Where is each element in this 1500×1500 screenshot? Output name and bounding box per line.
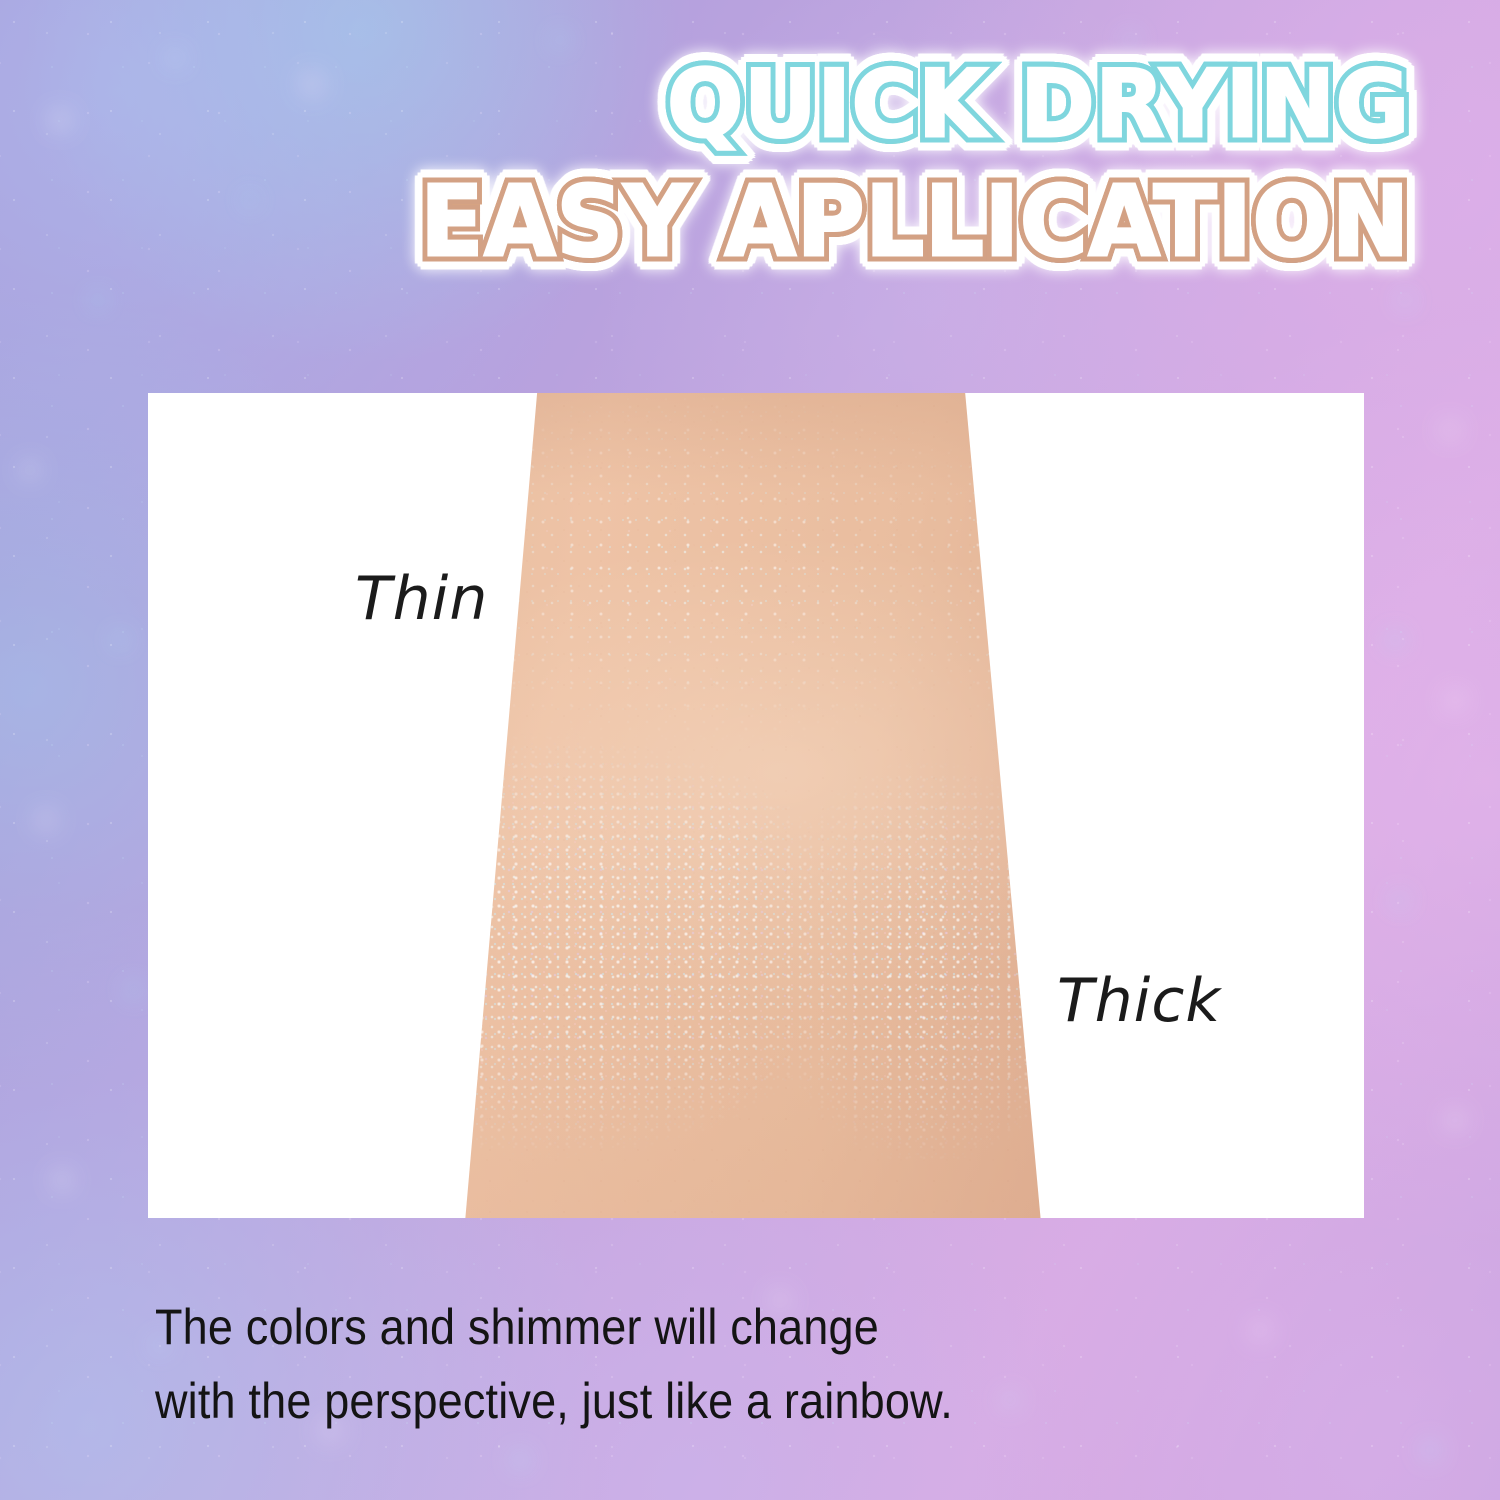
caption-line-2: with the perspective, just like a rainbo… xyxy=(155,1364,1145,1438)
swatch-label-thick: Thick xyxy=(1057,971,1221,1031)
caption-line-1: The colors and shimmer will change xyxy=(155,1290,1145,1364)
headline-quick-drying-text: QUICK DRYING xyxy=(667,50,1410,158)
product-feature-graphic: QUICK DRYING QUICK DRYING QUICK DRYING E… xyxy=(0,0,1500,1500)
headline-group: QUICK DRYING QUICK DRYING QUICK DRYING E… xyxy=(0,58,1410,270)
headline-quick-drying: QUICK DRYING QUICK DRYING QUICK DRYING xyxy=(56,58,1410,151)
forearm-photo xyxy=(148,393,1364,1218)
headline-easy-application-text: EASY APLLICATION xyxy=(420,165,1410,278)
caption-block: The colors and shimmer will change with … xyxy=(155,1290,1255,1438)
swatch-photo-panel: Thin Thick xyxy=(148,393,1364,1218)
swatch-label-thin: Thin xyxy=(355,569,488,629)
headline-easy-application: EASY APLLICATION EASY APLLICATION EASY A… xyxy=(71,173,1411,270)
glitter-swatch-iridescent-edge xyxy=(148,393,1364,1218)
